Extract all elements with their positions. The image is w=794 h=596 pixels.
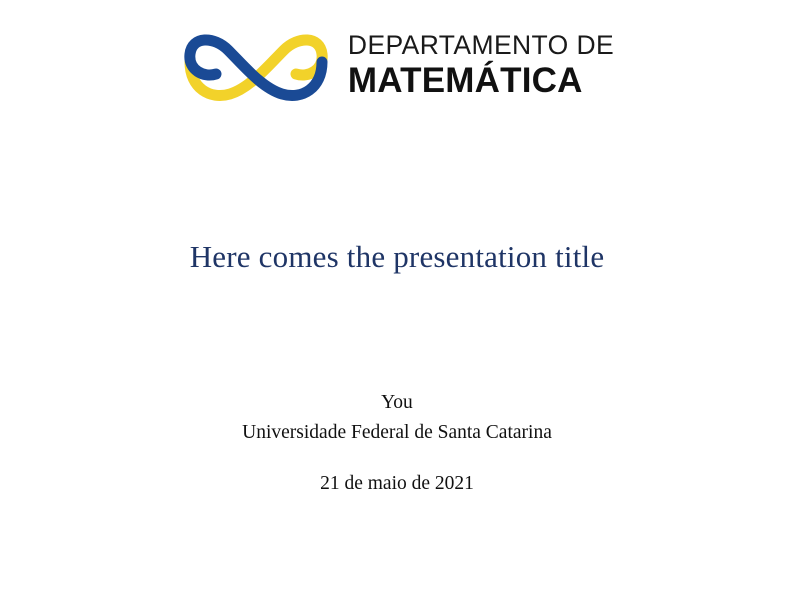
infinity-lemniscate-logo bbox=[180, 22, 332, 106]
presentation-title: Here comes the presentation title bbox=[0, 238, 794, 275]
department-logo-block: DEPARTAMENTO DE MATEMÁTICA bbox=[0, 22, 794, 106]
author-name: You bbox=[0, 388, 794, 418]
title-slide: DEPARTAMENTO DE MATEMÁTICA Here comes th… bbox=[0, 0, 794, 596]
logo-blue-strand bbox=[190, 40, 322, 96]
wordmark-line-departamento: DEPARTAMENTO DE bbox=[348, 32, 614, 59]
date-area: 21 de maio de 2021 bbox=[0, 473, 794, 495]
author-area: You Universidade Federal de Santa Catari… bbox=[0, 388, 794, 448]
wordmark-line-matematica: MATEMÁTICA bbox=[348, 63, 614, 98]
presentation-date: 21 de maio de 2021 bbox=[0, 473, 794, 495]
logo-yellow-strand bbox=[190, 40, 322, 96]
author-institute: Universidade Federal de Santa Catarina bbox=[0, 418, 794, 448]
department-wordmark: DEPARTAMENTO DE MATEMÁTICA bbox=[348, 30, 614, 99]
title-area: Here comes the presentation title bbox=[0, 238, 794, 275]
